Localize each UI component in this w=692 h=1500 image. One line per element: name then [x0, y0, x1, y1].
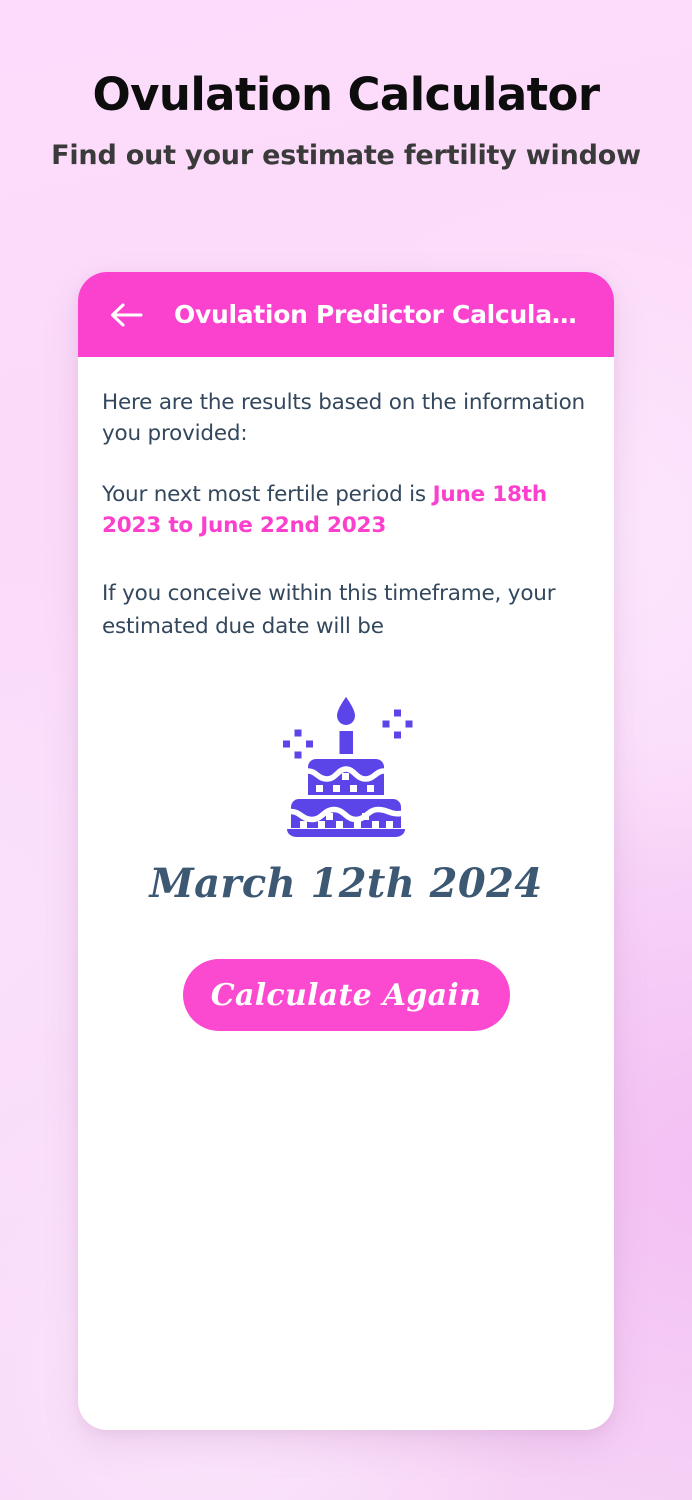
app-bar-title: Ovulation Predictor Calcula… — [174, 300, 576, 329]
fertile-period-prefix: Your next most fertile period is — [102, 482, 433, 507]
calculate-again-button[interactable]: Calculate Again — [183, 959, 510, 1031]
page-subtitle: Find out your estimate fertility window — [0, 137, 692, 175]
cake-illustration — [78, 685, 614, 837]
birthday-cake-icon — [271, 685, 421, 837]
card-body: Here are the results based on the inform… — [78, 357, 614, 1031]
back-button[interactable] — [104, 293, 148, 337]
app-bar: Ovulation Predictor Calcula… — [78, 272, 614, 357]
page-root: Ovulation Calculator Find out your estim… — [0, 0, 692, 1500]
page-heading: Ovulation Calculator Find out your estim… — [0, 66, 692, 175]
fertile-period-text: Your next most fertile period is June 18… — [102, 479, 590, 541]
results-intro-text: Here are the results based on the inform… — [102, 387, 590, 449]
arrow-left-icon — [109, 302, 143, 328]
phone-card: Ovulation Predictor Calcula… Here are th… — [78, 272, 614, 1430]
action-area: Calculate Again — [78, 959, 614, 1031]
due-date-value: March 12th 2024 — [78, 859, 614, 909]
conceive-note-text: If you conceive within this timeframe, y… — [102, 577, 590, 643]
page-title: Ovulation Calculator — [0, 66, 692, 124]
